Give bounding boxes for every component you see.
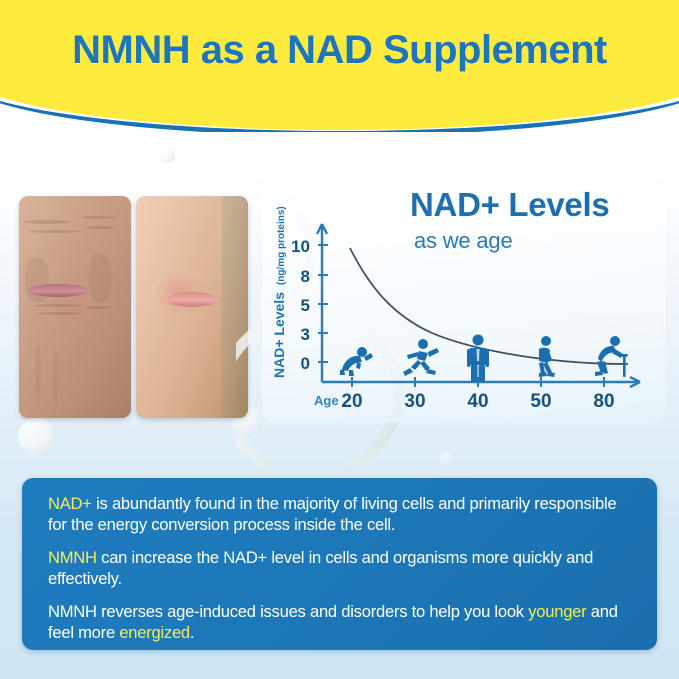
info-paragraph-1: NAD+ is abundantly found in the majority…: [48, 494, 635, 535]
highlight-nmnh: NMNH: [48, 548, 97, 567]
crawling-baby-icon: [340, 347, 373, 376]
x-tick-label: 50: [530, 391, 551, 412]
info-paragraph-3: NMNH reverses age-induced issues and dis…: [48, 602, 635, 643]
nad-decay-curve: [350, 248, 628, 364]
y-tick-label: 10: [291, 237, 310, 256]
svg-text:NAD+ Levels (ng/mg pro: NAD+ Levels (ng/mg proteins): [271, 206, 287, 378]
info-paragraph-1-rest: is abundantly found in the majority of l…: [48, 494, 616, 534]
x-tick-label: 80: [593, 391, 614, 412]
highlight-energized: energized: [119, 623, 190, 642]
y-axis-title: NAD+ Levels (ng/mg proteins): [271, 206, 287, 378]
decorative-bubble: [440, 452, 453, 465]
x-tick-label: 40: [467, 391, 488, 412]
page-title: NMNH as a NAD Supplement: [0, 28, 679, 73]
photo-before-aged-face: [19, 196, 131, 418]
hair-strand: [222, 196, 248, 418]
x-tick-label: 20: [341, 391, 362, 412]
decorative-bubble: [18, 418, 56, 456]
y-tick-label: 8: [301, 267, 310, 286]
standing-adult-icon: [467, 335, 489, 383]
y-tick-label: 0: [301, 354, 310, 373]
info-paragraph-3-part1: NMNH reverses age-induced issues and dis…: [48, 602, 528, 621]
before-after-photos: [19, 196, 248, 418]
info-paragraph-2-rest: can increase the NAD+ level in cells and…: [48, 548, 593, 588]
y-axis-title-unit: (ng/mg proteins): [276, 206, 287, 285]
walking-elderly-icon: [539, 336, 555, 377]
running-person-icon: [403, 339, 439, 376]
highlight-younger: younger: [528, 602, 586, 621]
y-tick-label: 5: [301, 296, 310, 315]
info-paragraph-3-part3: .: [190, 623, 194, 642]
x-tick-label: 30: [404, 391, 425, 412]
decorative-bubble: [160, 148, 175, 163]
highlight-nad: NAD+: [48, 494, 92, 513]
info-box: NAD+ is abundantly found in the majority…: [22, 478, 657, 650]
age-figure-icons: [340, 335, 628, 383]
y-tick-label: 3: [301, 325, 310, 344]
photo-after-young-face: [136, 196, 248, 418]
x-axis-label: Age: [314, 393, 339, 408]
nad-levels-chart: 10 8 5 3 0 Age 20 30 40 50 80: [262, 178, 666, 423]
infographic-page: NMNH as a NAD Supplement: [0, 0, 679, 679]
info-paragraph-2: NMNH can increase the NAD+ level in cell…: [48, 548, 635, 589]
y-axis-title-main: NAD+ Levels: [271, 292, 287, 378]
hunched-elderly-with-cane-icon: [595, 336, 628, 377]
